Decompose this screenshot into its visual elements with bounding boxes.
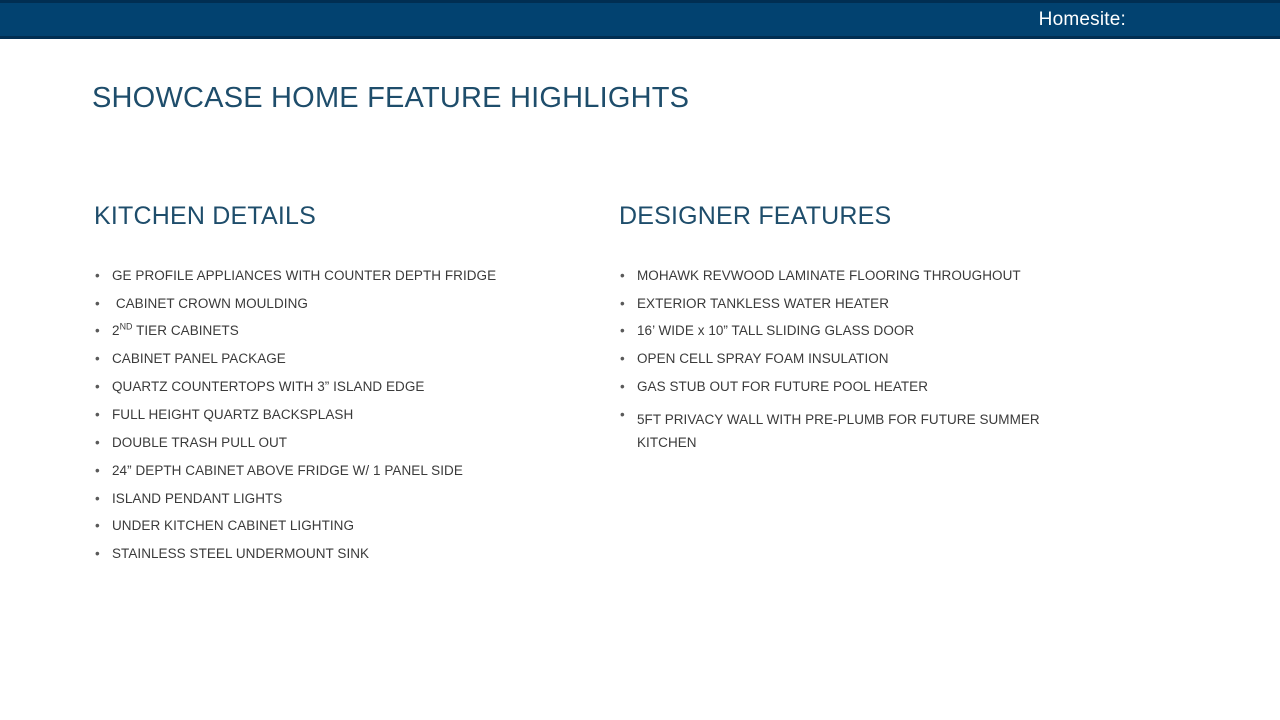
list-item-label: FULL HEIGHT QUARTZ BACKSPLASH (112, 408, 592, 423)
list-item-label: CABINET PANEL PACKAGE (112, 352, 592, 367)
bullet-icon: • (95, 547, 100, 562)
bullet-icon: • (95, 352, 100, 367)
list-item-label: DOUBLE TRASH PULL OUT (112, 436, 592, 451)
list-item: • 5FT PRIVACY WALL WITH PRE-PLUMB FOR FU… (617, 408, 1127, 454)
list-item-label: STAINLESS STEEL UNDERMOUNT SINK (112, 547, 592, 562)
bullet-icon: • (95, 297, 100, 312)
list-item: • GAS STUB OUT FOR FUTURE POOL HEATER (617, 380, 1127, 395)
list-item: • ISLAND PENDANT LIGHTS (92, 492, 592, 507)
list-item-label: GAS STUB OUT FOR FUTURE POOL HEATER (637, 380, 1127, 395)
bullet-icon: • (95, 324, 100, 339)
bullet-icon: • (95, 519, 100, 534)
list-item: • 24” DEPTH CABINET ABOVE FRIDGE W/ 1 PA… (92, 464, 592, 479)
bullet-icon: • (620, 408, 625, 423)
homesite-label: Homesite: (1039, 10, 1126, 29)
list-item-label: 2ND TIER CABINETS (112, 324, 592, 339)
bullet-icon: • (95, 380, 100, 395)
bullet-icon: • (95, 269, 100, 284)
list-item: • QUARTZ COUNTERTOPS WITH 3” ISLAND EDGE (92, 380, 592, 395)
designer-features-list: • MOHAWK REVWOOD LAMINATE FLOORING THROU… (617, 269, 1127, 455)
list-item: • MOHAWK REVWOOD LAMINATE FLOORING THROU… (617, 269, 1127, 284)
column-heading-kitchen-details: KITCHEN DETAILS (94, 202, 592, 231)
list-item-label: CABINET CROWN MOULDING (112, 297, 592, 312)
column-designer-features: DESIGNER FEATURES • MOHAWK REVWOOD LAMIN… (617, 202, 1127, 467)
bullet-icon: • (95, 436, 100, 451)
column-heading-designer-features: DESIGNER FEATURES (619, 202, 1127, 231)
bullet-icon: • (95, 464, 100, 479)
list-item-label: EXTERIOR TANKLESS WATER HEATER (637, 297, 1127, 312)
bullet-icon: • (620, 324, 625, 339)
list-item-label: ISLAND PENDANT LIGHTS (112, 492, 592, 507)
list-item: • 2ND TIER CABINETS (92, 324, 592, 339)
list-item: • DOUBLE TRASH PULL OUT (92, 436, 592, 451)
bullet-icon: • (620, 269, 625, 284)
list-item-label: GE PROFILE APPLIANCES WITH COUNTER DEPTH… (112, 269, 592, 284)
list-item-label-suffix: TIER CABINETS (133, 323, 239, 338)
list-item-label: OPEN CELL SPRAY FOAM INSULATION (637, 352, 1127, 367)
list-item-label: 5FT PRIVACY WALL WITH PRE-PLUMB FOR FUTU… (637, 408, 1082, 454)
list-item: • 16’ WIDE x 10” TALL SLIDING GLASS DOOR (617, 324, 1127, 339)
top-banner: Homesite: (0, 0, 1280, 39)
list-item-label: MOHAWK REVWOOD LAMINATE FLOORING THROUGH… (637, 269, 1127, 284)
bullet-icon: • (620, 352, 625, 367)
list-item: • EXTERIOR TANKLESS WATER HEATER (617, 297, 1127, 312)
list-item-label-prefix: 2 (112, 323, 120, 338)
list-item: • STAINLESS STEEL UNDERMOUNT SINK (92, 547, 592, 562)
list-item-label: 16’ WIDE x 10” TALL SLIDING GLASS DOOR (637, 324, 1127, 339)
list-item: • GE PROFILE APPLIANCES WITH COUNTER DEP… (92, 269, 592, 284)
list-item: • UNDER KITCHEN CABINET LIGHTING (92, 519, 592, 534)
bullet-icon: • (95, 408, 100, 423)
bullet-icon: • (620, 380, 625, 395)
column-kitchen-details: KITCHEN DETAILS • GE PROFILE APPLIANCES … (92, 202, 592, 575)
bullet-icon: • (95, 492, 100, 507)
list-item: • OPEN CELL SPRAY FOAM INSULATION (617, 352, 1127, 367)
list-item: • FULL HEIGHT QUARTZ BACKSPLASH (92, 408, 592, 423)
list-item-label: 24” DEPTH CABINET ABOVE FRIDGE W/ 1 PANE… (112, 464, 592, 479)
list-item-label: QUARTZ COUNTERTOPS WITH 3” ISLAND EDGE (112, 380, 592, 395)
list-item-label: UNDER KITCHEN CABINET LIGHTING (112, 519, 592, 534)
list-item-label-superscript: ND (120, 322, 133, 332)
kitchen-details-list: • GE PROFILE APPLIANCES WITH COUNTER DEP… (92, 269, 592, 562)
page-title: SHOWCASE HOME FEATURE HIGHLIGHTS (92, 82, 689, 115)
list-item: • CABINET CROWN MOULDING (92, 297, 592, 312)
bullet-icon: • (620, 297, 625, 312)
list-item: • CABINET PANEL PACKAGE (92, 352, 592, 367)
